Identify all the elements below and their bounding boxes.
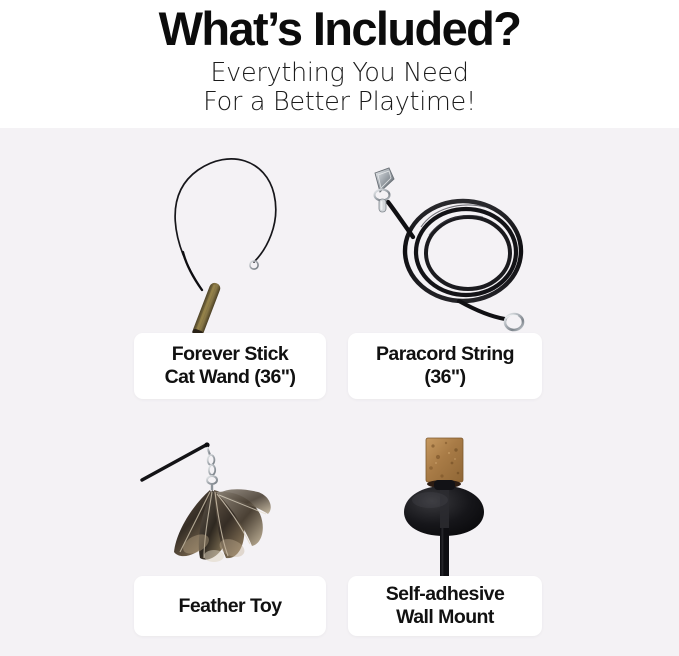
page-title: What’s Included?	[0, 0, 679, 56]
mount-body	[404, 480, 484, 536]
paracord-end-ring	[505, 314, 523, 330]
product-label-paracord: Paracord String (36")	[376, 343, 514, 389]
subtitle-line-1: Everything You Need	[0, 59, 679, 88]
feather-cluster	[174, 489, 271, 562]
cat-wand-image	[140, 150, 330, 335]
product-label-card-wall-mount: Self-adhesive Wall Mount	[348, 576, 542, 636]
product-label-cat-wand: Forever Stick Cat Wand (36")	[165, 343, 296, 389]
subtitle-line-2: For a Better Playtime!	[0, 88, 679, 117]
page-subtitle: Everything You Need For a Better Playtim…	[0, 56, 679, 117]
header-band: What’s Included? Everything You Need For…	[0, 0, 679, 128]
feather-toy-image	[140, 432, 335, 580]
product-label-card-cat-wand: Forever Stick Cat Wand (36")	[134, 333, 326, 399]
wall-mount-icon	[368, 432, 553, 580]
paracord-image	[355, 165, 550, 337]
feather-swivel	[207, 447, 217, 490]
product-label-card-feather-toy: Feather Toy	[134, 576, 326, 636]
feather-toy-icon	[140, 432, 335, 580]
mount-rod	[440, 528, 449, 580]
wall-mount-image	[368, 432, 553, 580]
paracord-string-icon	[355, 165, 550, 337]
product-label-wall-mount: Self-adhesive Wall Mount	[386, 583, 505, 629]
product-label-feather-toy: Feather Toy	[178, 595, 281, 618]
cat-wand-icon	[140, 150, 330, 335]
product-label-card-paracord: Paracord String (36")	[348, 333, 542, 399]
